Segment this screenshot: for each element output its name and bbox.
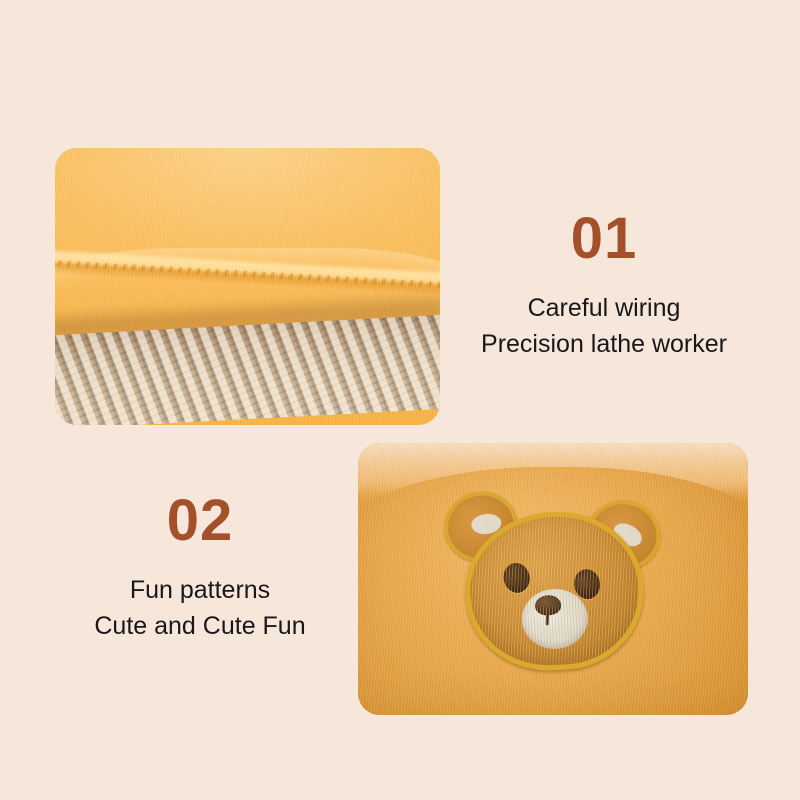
product-feature-canvas: 01 Careful wiring Precision lathe worker… [0, 0, 800, 800]
feature-text-block-02: 02 Fun patterns Cute and Cute Fun [40, 492, 360, 645]
corduroy-mat-texture [55, 315, 440, 425]
bear-eye-left-icon [501, 561, 532, 595]
bear-muzzle-icon [520, 588, 589, 651]
feature-line-secondary-02: Cute and Cute Fun [40, 608, 360, 644]
feature-line-secondary-01: Precision lathe worker [444, 326, 764, 362]
bear-nose-icon [535, 595, 562, 616]
feature-photo-bear-embroidery [358, 443, 748, 715]
feature-number-01: 01 [444, 210, 764, 268]
feature-caption-01: Careful wiring Precision lathe worker [444, 290, 764, 363]
feature-photo-plush-seam [55, 148, 440, 425]
feature-caption-02: Fun patterns Cute and Cute Fun [40, 572, 360, 645]
feature-line-primary-02: Fun patterns [40, 572, 360, 608]
feature-line-primary-01: Careful wiring [444, 290, 764, 326]
feature-text-block-01: 01 Careful wiring Precision lathe worker [444, 210, 764, 363]
feature-number-02: 02 [40, 492, 360, 550]
bear-face-embroidery-icon [436, 481, 670, 688]
bear-eye-right-icon [571, 567, 602, 601]
